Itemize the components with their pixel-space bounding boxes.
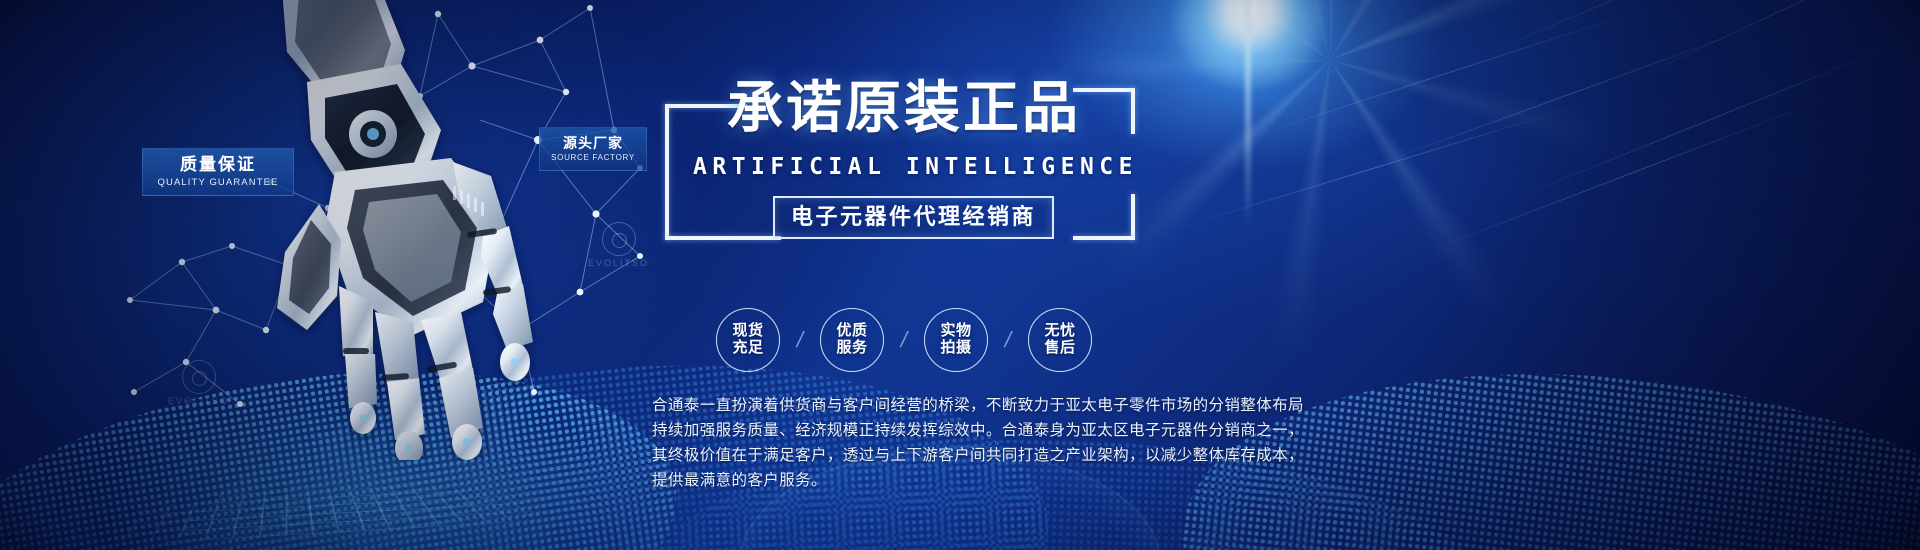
feature-line-1: 无忧 (1044, 323, 1075, 340)
feature-line-2: 拍摄 (940, 340, 971, 357)
feature-line-1: 实物 (940, 323, 971, 340)
description-paragraph: 合通泰一直扮演着供货商与客户间经营的桥梁，不断致力于亚太电子零件市场的分销整体布… (652, 393, 1312, 493)
bracket-bottom-right-horizontal (1073, 236, 1135, 240)
feature-line-1: 优质 (836, 323, 867, 340)
paragraph-line-4: 提供最满意的客户服务。 (652, 468, 1312, 493)
paragraph-line-1: 合通泰一直扮演着供货商与客户间经营的桥梁，不断致力于亚太电子零件市场的分销整体布… (652, 393, 1312, 418)
feature-circle: 无忧售后 (1028, 308, 1092, 372)
paragraph-line-2: 持续加强服务质量、经济规模正持续发挥综效中。合通泰身为亚太区电子元器件分销商之一… (652, 418, 1312, 443)
feature-separator: / (881, 327, 927, 353)
badge-source-factory: 源头厂家 SOURCE FACTORY (539, 127, 647, 171)
feature-circle: 实物拍摄 (924, 308, 988, 372)
bracket-bottom-right-vertical (1131, 194, 1135, 240)
bracket-left-vertical (665, 104, 669, 240)
feature-circle: 优质服务 (820, 308, 884, 372)
bracket-bottom-left-horizontal (665, 236, 781, 240)
feature-separator: / (777, 327, 823, 353)
headline-main: 承诺原装正品 (727, 78, 1081, 138)
feature-line-2: 服务 (836, 340, 867, 357)
feature-list: 现货充足/优质服务/实物拍摄/无忧售后 (716, 308, 1092, 372)
feature-separator: / (985, 327, 1031, 353)
bracket-top-right-vertical (1131, 88, 1135, 134)
headline-english: ARTIFICIAL INTELLIGENCE (693, 154, 1138, 180)
badge-quality-guarantee: 质量保证 QUALITY GUARANTEE (142, 148, 294, 196)
bracket-top-right-horizontal (1073, 88, 1135, 92)
badge-source-cn: 源头厂家 (563, 136, 623, 151)
headline-subtitle: 电子元器件代理经销商 (773, 196, 1054, 239)
feature-line-2: 充足 (732, 340, 763, 357)
feature-line-1: 现货 (732, 323, 763, 340)
paragraph-line-3: 其终极价值在于满足客户，透过与上下游客户间共同打造之产业架构，以减少整体库存成本… (652, 443, 1312, 468)
badge-quality-en: QUALITY GUARANTEE (158, 177, 279, 188)
badge-quality-cn: 质量保证 (180, 156, 256, 175)
promo-banner: EVOLITSO EVOLITSO 质量保证 QUALITY GUARANTEE… (0, 0, 1920, 550)
badge-source-en: SOURCE FACTORY (551, 153, 635, 162)
headline-block: 承诺原装正品 ARTIFICIAL INTELLIGENCE 电子元器件代理经销… (665, 78, 1135, 258)
feature-line-2: 售后 (1044, 340, 1075, 357)
feature-circle: 现货充足 (716, 308, 780, 372)
